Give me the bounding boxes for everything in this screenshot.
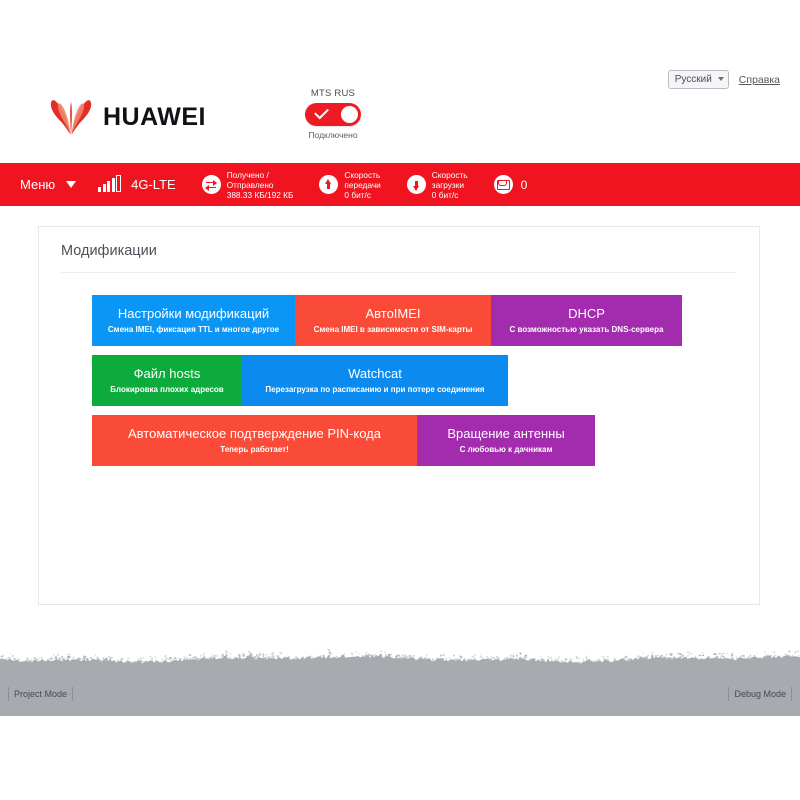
tile-subtitle: С любовью к дачникам xyxy=(460,445,553,455)
help-link[interactable]: Справка xyxy=(739,74,780,86)
download-speed-indicator: Скорость загрузки 0 бит/с xyxy=(407,170,468,200)
traffic-label-line1: Получено / xyxy=(227,170,269,180)
upload-label-line2: передачи xyxy=(344,180,380,190)
tile-subtitle: С возможностью указать DNS-сервера xyxy=(510,325,664,335)
modification-tile[interactable]: Автоматическое подтверждение PIN-кодаТеп… xyxy=(92,415,417,466)
traffic-label-line2: Отправлено xyxy=(227,180,274,190)
modification-tile[interactable]: Вращение антенныС любовью к дачникам xyxy=(417,415,595,466)
signal-indicator: 4G-LTE xyxy=(98,177,176,192)
status-bar: Меню 4G-LTE Получено / Отправлено 388.33… xyxy=(0,163,800,206)
tile-subtitle: Перезагрузка по расписанию и при потере … xyxy=(265,385,484,395)
tile-row: Настройки модификацийСмена IMEI, фиксаци… xyxy=(92,295,759,346)
tile-title: Автоматическое подтверждение PIN-кода xyxy=(128,426,381,441)
messages-count: 0 xyxy=(521,178,528,192)
exchange-arrows-icon xyxy=(202,175,221,194)
arrow-down-icon xyxy=(407,175,426,194)
traffic-text: Получено / Отправлено 388.33 КБ/192 КБ xyxy=(227,170,294,200)
tile-title: АвтоIMEI xyxy=(365,306,420,321)
tile-subtitle: Теперь работает! xyxy=(220,445,289,455)
traffic-value: 388.33 КБ/192 КБ xyxy=(227,190,294,200)
tile-subtitle: Смена IMEI в зависимости от SIM-карты xyxy=(314,325,473,335)
tile-row: Автоматическое подтверждение PIN-кодаТеп… xyxy=(92,415,759,466)
huawei-flower-icon xyxy=(48,98,94,136)
network-operator-name: MTS RUS xyxy=(303,88,363,99)
modification-tile[interactable]: DHCPС возможностью указать DNS-сервера xyxy=(491,295,682,346)
modification-tile[interactable]: АвтоIMEIСмена IMEI в зависимости от SIM-… xyxy=(295,295,491,346)
language-select-value: Русский xyxy=(675,73,712,86)
page-header: Русский Справка HUAWEI MTS RUS xyxy=(0,0,800,163)
tile-title: DHCP xyxy=(568,306,605,321)
chevron-down-icon xyxy=(718,77,724,81)
download-speed-text: Скорость загрузки 0 бит/с xyxy=(432,170,468,200)
tile-title: Вращение антенны xyxy=(447,426,564,441)
connection-state-label: Подключено xyxy=(303,130,363,140)
tile-title: Настройки модификаций xyxy=(118,306,269,321)
huawei-wordmark: HUAWEI xyxy=(103,103,206,132)
signal-bars-icon xyxy=(98,177,121,192)
upload-speed-text: Скорость передачи 0 бит/с xyxy=(344,170,380,200)
upload-label-line1: Скорость xyxy=(344,170,380,180)
traffic-indicator: Получено / Отправлено 388.33 КБ/192 КБ xyxy=(202,170,294,200)
page-title: Модификации xyxy=(39,227,759,259)
connection-toggle[interactable] xyxy=(305,103,361,126)
download-label-line1: Скорость xyxy=(432,170,468,180)
tile-subtitle: Смена IMEI, фиксация TTL и многое другое xyxy=(108,325,279,335)
footer-bar: Project Mode Debug Mode xyxy=(0,641,800,716)
debug-mode-label[interactable]: Debug Mode xyxy=(728,687,792,701)
modification-tiles: Настройки модификацийСмена IMEI, фиксаци… xyxy=(39,273,759,466)
connection-widget: MTS RUS Подключено xyxy=(303,88,363,140)
huawei-logo: HUAWEI xyxy=(48,98,206,136)
modification-tile[interactable]: WatchcatПерезагрузка по расписанию и при… xyxy=(242,355,508,406)
upload-speed-indicator: Скорость передачи 0 бит/с xyxy=(319,170,380,200)
menu-button[interactable]: Меню xyxy=(20,177,76,192)
tile-row: Файл hostsБлокировка плохих адресовWatch… xyxy=(92,355,759,406)
modification-tile[interactable]: Файл hostsБлокировка плохих адресов xyxy=(92,355,242,406)
tile-title: Watchcat xyxy=(348,366,402,381)
upload-value: 0 бит/с xyxy=(344,190,371,200)
tile-title: Файл hosts xyxy=(134,366,201,381)
language-select[interactable]: Русский xyxy=(668,70,729,89)
modifications-card: Модификации Настройки модификацийСмена I… xyxy=(38,226,760,605)
arrow-up-icon xyxy=(319,175,338,194)
download-label-line2: загрузки xyxy=(432,180,464,190)
messages-indicator[interactable]: 0 xyxy=(494,175,528,194)
network-type-label: 4G-LTE xyxy=(131,177,176,192)
chevron-down-icon xyxy=(66,181,76,188)
envelope-icon xyxy=(494,175,513,194)
utility-bar: Русский Справка xyxy=(668,70,780,89)
download-value: 0 бит/с xyxy=(432,190,459,200)
modification-tile[interactable]: Настройки модификацийСмена IMEI, фиксаци… xyxy=(92,295,295,346)
toggle-knob xyxy=(341,106,358,123)
project-mode-label[interactable]: Project Mode xyxy=(8,687,73,701)
torn-edge-graphic xyxy=(0,641,800,716)
menu-button-label: Меню xyxy=(20,177,55,192)
check-icon xyxy=(314,105,329,120)
tile-subtitle: Блокировка плохих адресов xyxy=(110,385,223,395)
